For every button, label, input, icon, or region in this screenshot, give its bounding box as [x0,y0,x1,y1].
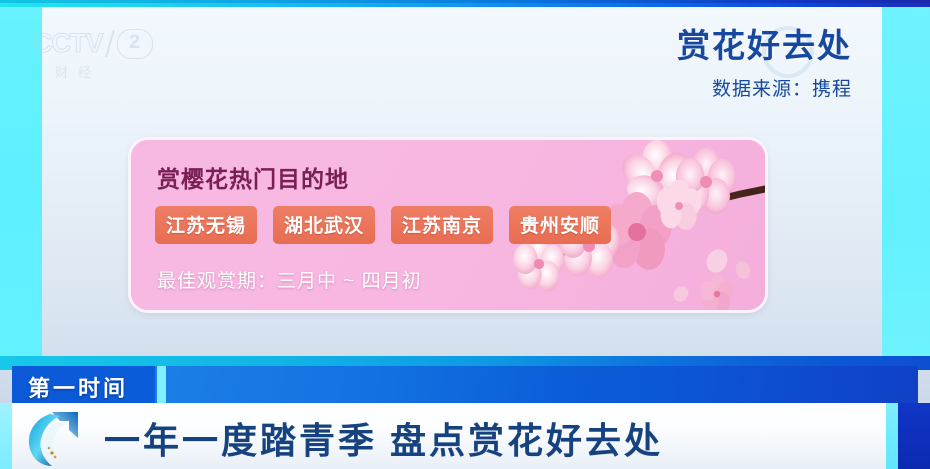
destination-card: 赏樱花热门目的地 江苏无锡 湖北武汉 江苏南京 贵州安顺 最佳观赏期：三月中 ~… [128,137,768,313]
program-badge: 第一时间 [28,371,128,403]
page-title: 赏花好去处 [677,27,852,65]
headline-panel-left-edge [0,403,12,469]
destination-tag[interactable]: 江苏无锡 [155,206,257,244]
swoosh-arrow-logo-icon [22,406,92,468]
best-viewing-period-note: 最佳观赏期：三月中 ~ 四月初 [157,266,422,293]
destination-tag[interactable]: 江苏南京 [391,206,493,244]
destination-tag[interactable]: 贵州安顺 [509,206,611,244]
graphic-title-block: 赏花好去处 数据来源：携程 [677,27,852,101]
program-bar-sheen [155,366,918,403]
right-cyan-band [882,6,930,362]
program-badge-accent [157,366,166,403]
data-source-label: 数据来源：携程 [677,74,852,101]
destination-tag[interactable]: 湖北武汉 [273,206,375,244]
destination-tag-list: 江苏无锡 湖北武汉 江苏南京 贵州安顺 [155,206,611,244]
broadcast-screenshot: CCTV 2 财经 赏花好去处 数据来源：携程 [0,0,930,469]
headline-panel-right-edge [886,403,898,469]
headline-panel-right-block [898,403,930,469]
left-cyan-band [0,6,42,362]
news-headline: 一年一度踏青季 盘点赏花好去处 [104,412,663,464]
top-color-strip-highlight [0,0,930,3]
card-heading: 赏樱花热门目的地 [157,160,349,194]
